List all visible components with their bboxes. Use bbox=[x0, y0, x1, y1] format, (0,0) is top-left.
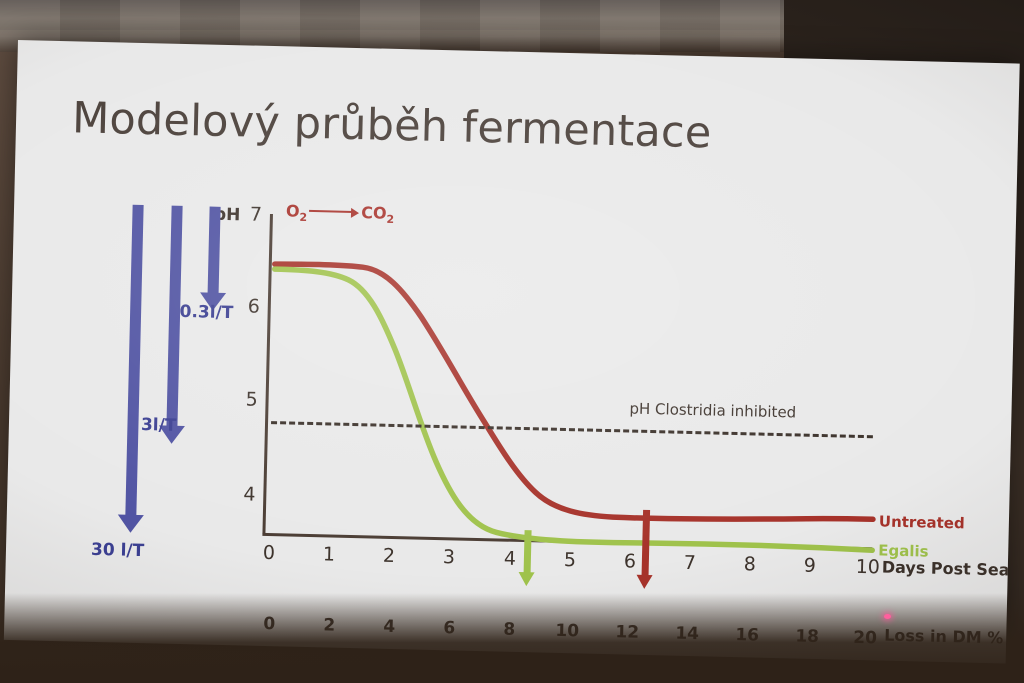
x-tick-3: 3 bbox=[434, 546, 465, 569]
x-tick-9: 9 bbox=[795, 554, 826, 577]
x-tick-4: 4 bbox=[495, 547, 526, 570]
dosing-arrow-label-30l: 30 l/T bbox=[91, 540, 145, 561]
fermentation-chart: pH 7 6 5 4 O2 CO2 bbox=[4, 40, 1020, 663]
x-tick-8: 8 bbox=[735, 553, 766, 576]
legend-label-untreated: Untreated bbox=[879, 512, 965, 532]
x-tick-5: 5 bbox=[555, 549, 586, 572]
x-tick-1: 1 bbox=[314, 543, 345, 566]
laser-pointer-dot bbox=[884, 614, 891, 619]
x-tick-6: 6 bbox=[615, 550, 646, 573]
x-tick-10: 10 bbox=[853, 556, 884, 579]
x-tick-7: 7 bbox=[675, 552, 706, 575]
projected-slide-photo: Modelový průběh fermentace pH 7 6 5 4 O2… bbox=[0, 0, 1024, 683]
x-axis-title: Days Post Sealing bbox=[882, 558, 1020, 581]
dosing-arrow-label-03l: 0.3l/T bbox=[179, 302, 233, 323]
x-tick-2: 2 bbox=[374, 545, 405, 568]
dosing-arrow-label-3l: 3l/T bbox=[141, 415, 177, 436]
x-tick-0: 0 bbox=[254, 542, 285, 565]
series-untreated-path bbox=[269, 263, 879, 523]
presentation-screen: Modelový průběh fermentace pH 7 6 5 4 O2… bbox=[4, 40, 1020, 663]
room-floor-shadow bbox=[0, 593, 1024, 683]
